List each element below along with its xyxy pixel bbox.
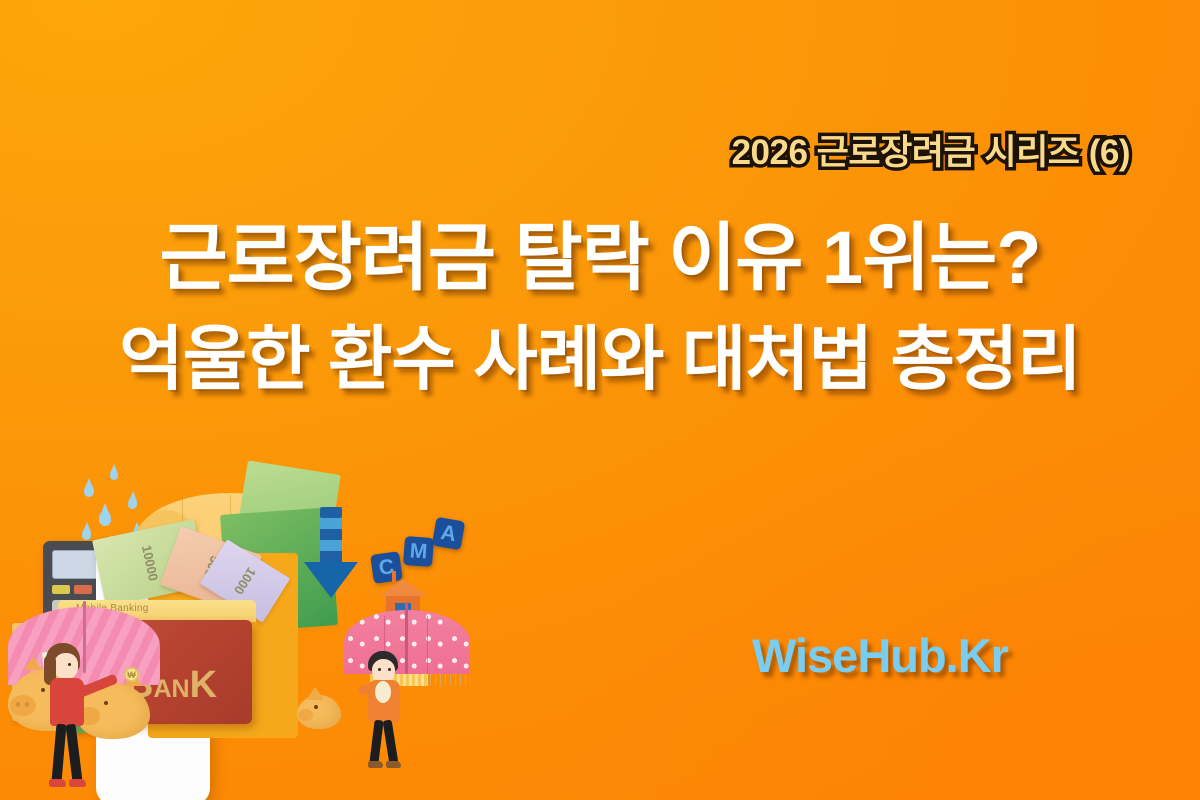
letter-tile-m-label: M xyxy=(403,536,434,567)
letter-tile-a-label: A xyxy=(432,517,466,551)
raindrop-icon xyxy=(84,484,94,497)
finance-illustration: UP! xyxy=(0,455,470,800)
raindrop-icon xyxy=(110,469,118,480)
page-title: 근로장려금 탈락 이유 1위는? 억울한 환수 사례와 대처법 총정리 xyxy=(0,205,1200,409)
raindrop-icon xyxy=(99,510,111,526)
thumbnail-canvas: 2026 근로장려금 시리즈 (6) 근로장려금 탈락 이유 1위는? 억울한 … xyxy=(0,0,1200,800)
letter-tile-a: A xyxy=(432,517,466,551)
letter-tile-m: M xyxy=(403,536,434,567)
coin-icon xyxy=(124,667,139,682)
title-line-2: 억울한 환수 사례와 대처법 총정리 xyxy=(0,310,1200,409)
title-line-1: 근로장려금 탈락 이유 1위는? xyxy=(0,205,1200,310)
raindrop-icon xyxy=(128,497,137,509)
bank-text-k: K xyxy=(190,664,217,706)
brand-watermark: WiseHub.Kr xyxy=(700,628,1060,683)
series-label: 2026 근로장려금 시리즈 (6) xyxy=(0,124,1130,175)
banknote-denomination: 10000 xyxy=(139,544,161,582)
banknote-denomination: 1000 xyxy=(231,565,259,597)
raindrop-icon xyxy=(82,528,91,540)
